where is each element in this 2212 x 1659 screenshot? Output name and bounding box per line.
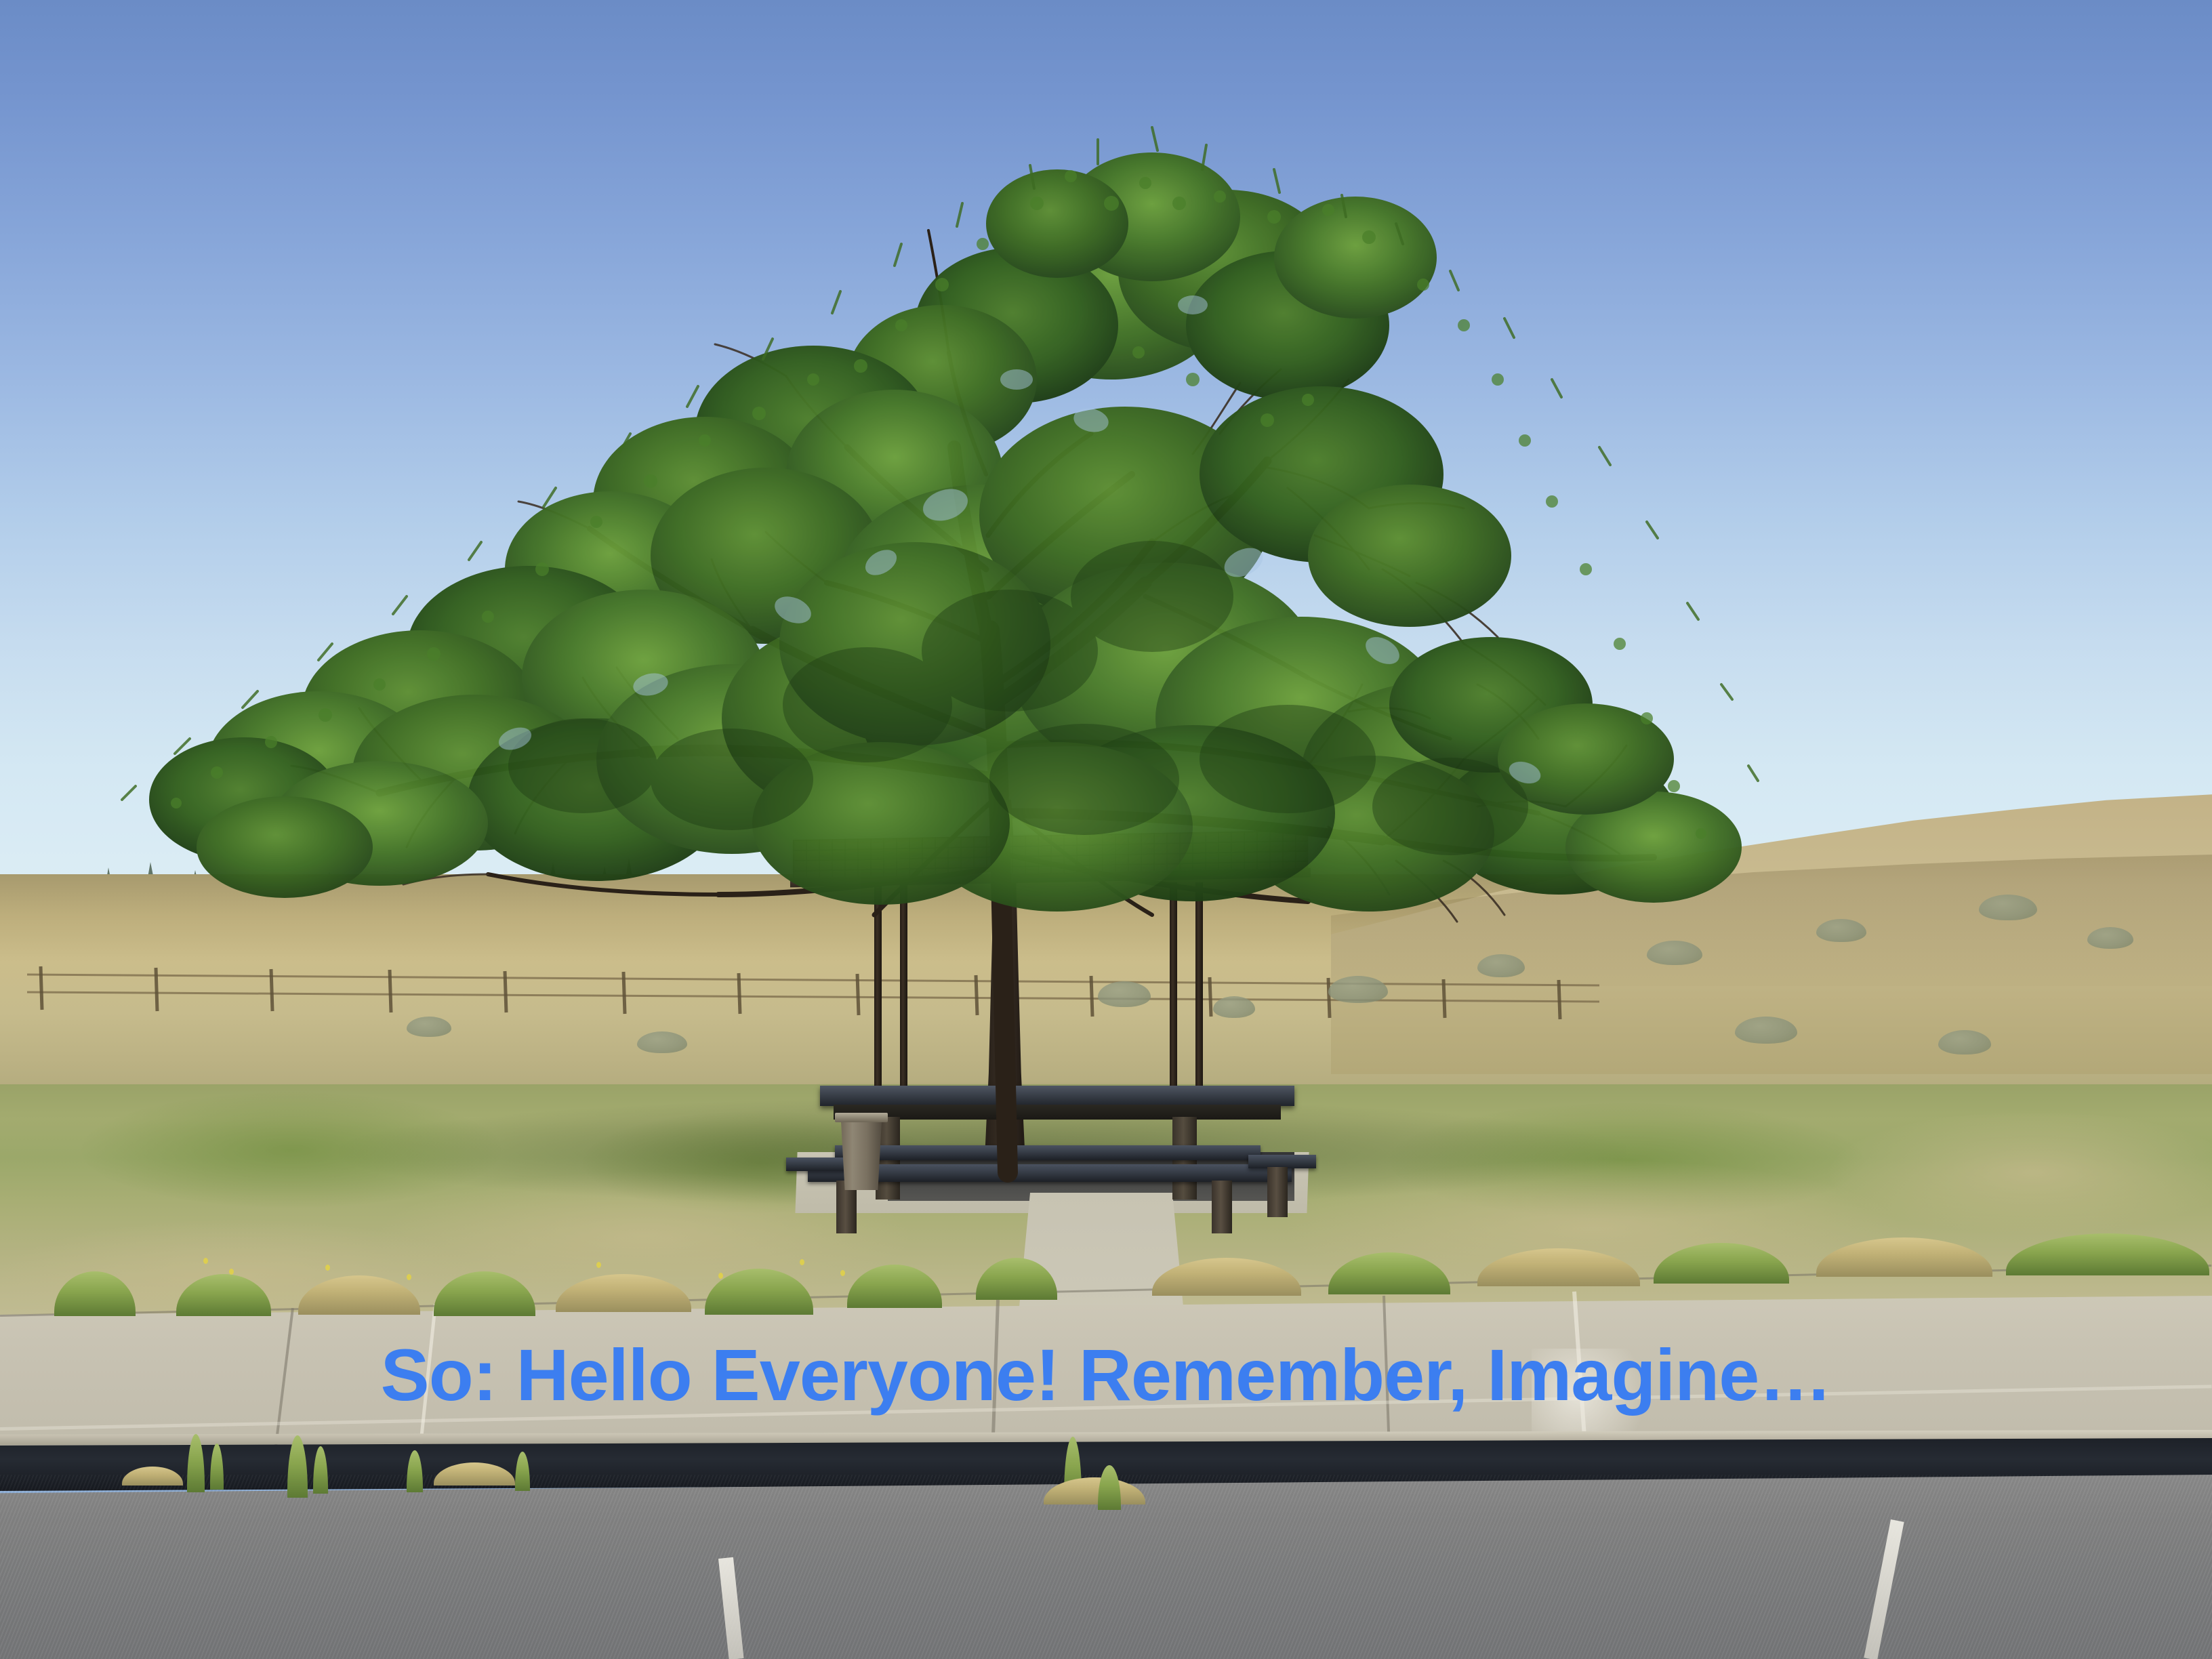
picnic-table-apron xyxy=(834,1105,1281,1120)
trash-receptacle xyxy=(839,1117,884,1190)
sky xyxy=(0,0,2212,895)
sagebrush xyxy=(2087,927,2133,949)
sagebrush xyxy=(407,1017,451,1037)
sagebrush xyxy=(1979,895,2037,920)
wildflower xyxy=(407,1274,411,1280)
bench-leg xyxy=(1212,1181,1232,1233)
picnic-table-top xyxy=(820,1086,1294,1106)
wildflower xyxy=(800,1259,804,1265)
sagebrush xyxy=(1328,976,1388,1003)
caption-text: So: Hello Everyone! Remember, Imagine… xyxy=(0,1338,2212,1412)
shelter-post xyxy=(1195,882,1203,1098)
bench-end-leg-right xyxy=(1267,1167,1288,1217)
shelter-post xyxy=(874,882,882,1098)
wildflower xyxy=(325,1265,330,1271)
sagebrush xyxy=(1477,954,1525,977)
photo-scene: So: Hello Everyone! Remember, Imagine… xyxy=(0,0,2212,1659)
bench-seat-front xyxy=(808,1164,1292,1182)
sagebrush xyxy=(1735,1017,1797,1044)
sagebrush xyxy=(1816,919,1866,942)
wildflower xyxy=(203,1258,208,1264)
wildflower xyxy=(718,1273,723,1279)
bench-seat-rear xyxy=(835,1145,1261,1160)
wildflower xyxy=(596,1262,601,1268)
shelter-post xyxy=(900,882,907,1098)
wildflower xyxy=(840,1270,845,1276)
sagebrush xyxy=(1647,941,1702,965)
bench-end-left xyxy=(786,1158,851,1171)
sagebrush xyxy=(1938,1030,1991,1054)
trash-receptacle-rim xyxy=(835,1113,888,1122)
sagebrush xyxy=(637,1031,687,1053)
shelter-post xyxy=(1170,882,1177,1098)
bench-end-right xyxy=(1248,1155,1316,1168)
